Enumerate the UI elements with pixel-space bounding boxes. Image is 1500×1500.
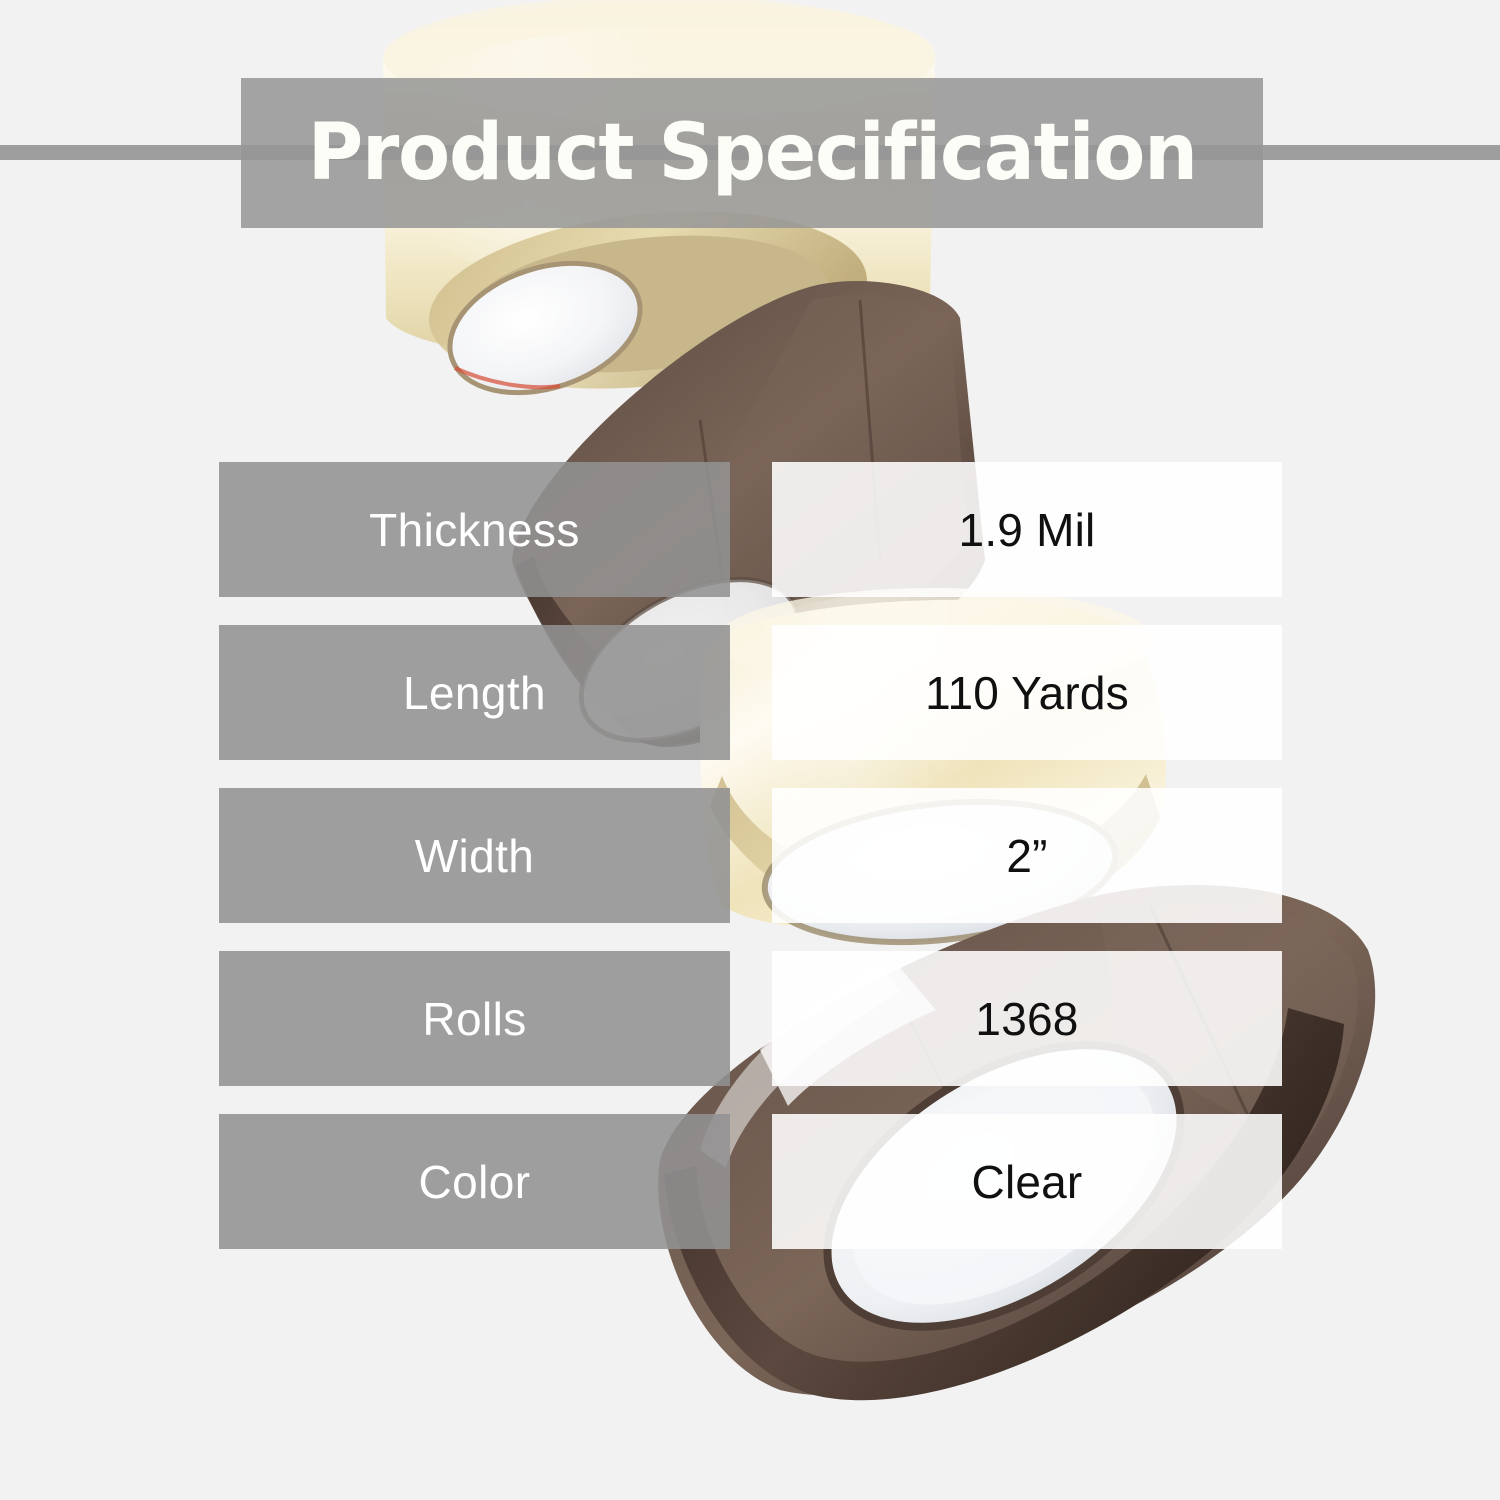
spec-value-text: 1368 <box>975 992 1078 1046</box>
spec-label-text: Rolls <box>422 992 526 1046</box>
product-specification-infographic: Product Specification Thickness 1.9 Mil … <box>0 0 1500 1500</box>
spec-label-text: Width <box>415 829 535 883</box>
page-title: Product Specification <box>307 114 1196 192</box>
spec-value-text: 2” <box>1006 829 1047 883</box>
table-row: Thickness 1.9 Mil <box>0 462 1500 597</box>
spec-value-thickness: 1.9 Mil <box>772 462 1282 597</box>
spec-label-text: Thickness <box>369 503 580 557</box>
spec-label-width: Width <box>219 788 730 923</box>
spec-value-color: Clear <box>772 1114 1282 1249</box>
spec-label-text: Color <box>419 1155 531 1209</box>
spec-label-text: Length <box>403 666 546 720</box>
spec-label-color: Color <box>219 1114 730 1249</box>
spec-value-length: 110 Yards <box>772 625 1282 760</box>
spec-label-length: Length <box>219 625 730 760</box>
title-banner: Product Specification <box>241 78 1263 228</box>
table-row: Width 2” <box>0 788 1500 923</box>
spec-value-text: 1.9 Mil <box>959 503 1096 557</box>
spec-value-width: 2” <box>772 788 1282 923</box>
table-row: Length 110 Yards <box>0 625 1500 760</box>
spec-value-text: 110 Yards <box>925 666 1129 720</box>
spec-value-text: Clear <box>972 1155 1083 1209</box>
spec-label-rolls: Rolls <box>219 951 730 1086</box>
spec-value-rolls: 1368 <box>772 951 1282 1086</box>
table-row: Rolls 1368 <box>0 951 1500 1086</box>
table-row: Color Clear <box>0 1114 1500 1249</box>
specification-table: Thickness 1.9 Mil Length 110 Yards Width… <box>0 462 1500 1277</box>
spec-label-thickness: Thickness <box>219 462 730 597</box>
